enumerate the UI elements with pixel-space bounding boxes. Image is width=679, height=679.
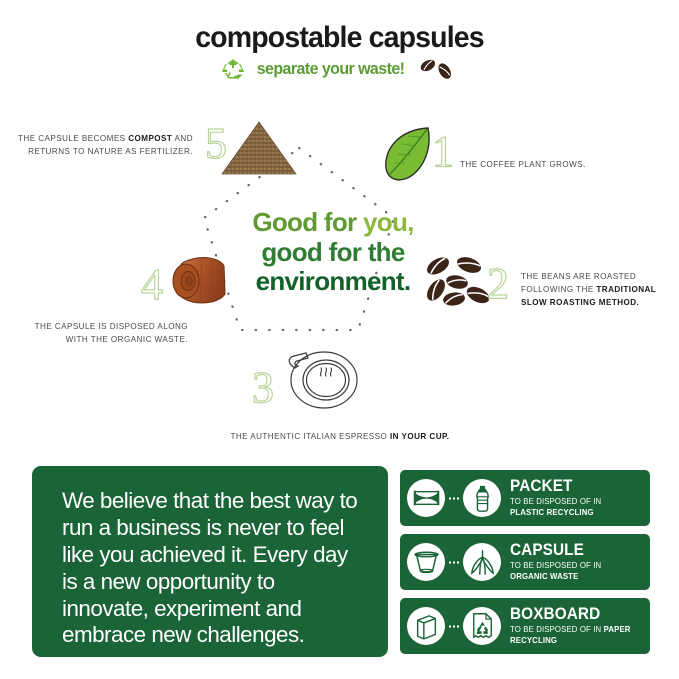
caption-text: THE CAPSULE BECOMES	[18, 134, 128, 143]
brand-quote-box: We believe that the best way to run a bu…	[32, 466, 388, 657]
center-line-1b: you,	[363, 207, 414, 237]
caption-bold: COMPOST	[128, 134, 172, 143]
caption-text: FOLLOWING THE	[521, 285, 596, 294]
disposal-instructions: PACKET TO BE DISPOSED OF IN PLASTIC RECY…	[400, 470, 650, 662]
cycle-step-2-caption: THE BEANS ARE ROASTED FOLLOWING THE TRAD…	[521, 270, 679, 309]
paper-recycling-icon	[463, 607, 501, 645]
caption-bold: TRADITIONAL	[596, 285, 656, 294]
caption-text: RETURNS TO NATURE AS FERTILIZER.	[28, 147, 193, 156]
capsule-icon	[407, 543, 445, 581]
card-subtitle-plain: TO BE DISPOSED OF IN	[510, 561, 601, 570]
recycle-icon	[221, 58, 245, 80]
box-icon	[407, 607, 445, 645]
link-dots	[447, 625, 461, 628]
cycle-step-4-number: 4	[141, 263, 163, 307]
cycle-step-2-number: 2	[487, 262, 509, 306]
card-icon-group	[407, 543, 501, 581]
caption-bold: IN YOUR CUP.	[390, 432, 450, 441]
caption-text: AND	[172, 134, 193, 143]
infographic-header: compostable capsules separate your waste…	[0, 22, 679, 81]
card-subtitle-bold: PLASTIC RECYCLING	[510, 508, 594, 517]
link-dots	[447, 561, 461, 564]
cycle-step-1-number: 1	[432, 130, 454, 174]
card-text-group: CAPSULE TO BE DISPOSED OF IN ORGANIC WAS…	[510, 542, 606, 583]
card-title: BOXBOARD	[510, 606, 640, 623]
disposal-card-boxboard[interactable]: BOXBOARD TO BE DISPOSED OF IN PAPER RECY…	[400, 598, 650, 654]
packet-pouch-icon	[407, 479, 445, 517]
link-dots	[447, 497, 461, 500]
card-subtitle: TO BE DISPOSED OF IN PLASTIC RECYCLING	[510, 497, 601, 518]
caption-text: WITH THE ORGANIC WASTE.	[66, 335, 188, 344]
plastic-bottle-icon	[463, 479, 501, 517]
card-subtitle-plain: TO BE DISPOSED OF IN	[510, 625, 604, 634]
espresso-cup-icon	[283, 340, 361, 412]
card-icon-group	[407, 479, 501, 517]
center-line-2: good for the	[261, 237, 404, 267]
disposal-card-packet[interactable]: PACKET TO BE DISPOSED OF IN PLASTIC RECY…	[400, 470, 650, 526]
cycle-step-3-caption: THE AUTHENTIC ITALIAN ESPRESSO IN YOUR C…	[160, 430, 520, 443]
center-line-1a: Good for	[252, 207, 363, 237]
card-text-group: BOXBOARD TO BE DISPOSED OF IN PAPER RECY…	[510, 606, 650, 647]
header-subtitle: separate your waste!	[257, 59, 405, 79]
cycle-step-4-caption: THE CAPSULE IS DISPOSED ALONG WITH THE O…	[18, 320, 188, 346]
lifecycle-diagram: 5 THE CAPSULE BECOMES COMPOST AND RETURN…	[0, 100, 679, 455]
card-subtitle: TO BE DISPOSED OF IN PAPER RECYCLING	[510, 625, 643, 646]
disposal-card-capsule[interactable]: CAPSULE TO BE DISPOSED OF IN ORGANIC WAS…	[400, 534, 650, 590]
leaf-icon	[378, 124, 434, 186]
caption-text: THE BEANS ARE ROASTED	[521, 272, 636, 281]
coffee-beans-icon	[416, 57, 458, 81]
cycle-step-5-caption: THE CAPSULE BECOMES COMPOST AND RETURNS …	[18, 132, 193, 158]
card-title: CAPSULE	[510, 542, 599, 559]
compost-pile-icon	[218, 118, 300, 178]
caption-text: THE CAPSULE IS DISPOSED ALONG	[35, 322, 188, 331]
caption-text: THE COFFEE PLANT GROWS.	[460, 160, 586, 169]
banana-peel-icon	[463, 543, 501, 581]
center-line-3: environment.	[256, 266, 411, 296]
cycle-step-3-number: 3	[252, 366, 274, 410]
card-icon-group	[407, 607, 501, 645]
coffee-capsule-icon	[168, 252, 232, 308]
page-title: compostable capsules	[17, 22, 662, 54]
card-title: PACKET	[510, 478, 599, 495]
center-statement: Good for you, good for the environment.	[228, 208, 438, 297]
header-subtitle-row: separate your waste!	[0, 57, 679, 81]
card-subtitle: TO BE DISPOSED OF IN ORGANIC WASTE	[510, 561, 601, 582]
cycle-step-1-caption: THE COFFEE PLANT GROWS.	[460, 158, 650, 171]
card-text-group: PACKET TO BE DISPOSED OF IN PLASTIC RECY…	[510, 478, 606, 519]
card-subtitle-bold: ORGANIC WASTE	[510, 572, 578, 581]
caption-bold: SLOW ROASTING METHOD.	[521, 298, 639, 307]
caption-text: THE AUTHENTIC ITALIAN ESPRESSO	[230, 432, 390, 441]
brand-quote-text: We believe that the best way to run a bu…	[62, 488, 362, 649]
card-subtitle-plain: TO BE DISPOSED OF IN	[510, 497, 601, 506]
